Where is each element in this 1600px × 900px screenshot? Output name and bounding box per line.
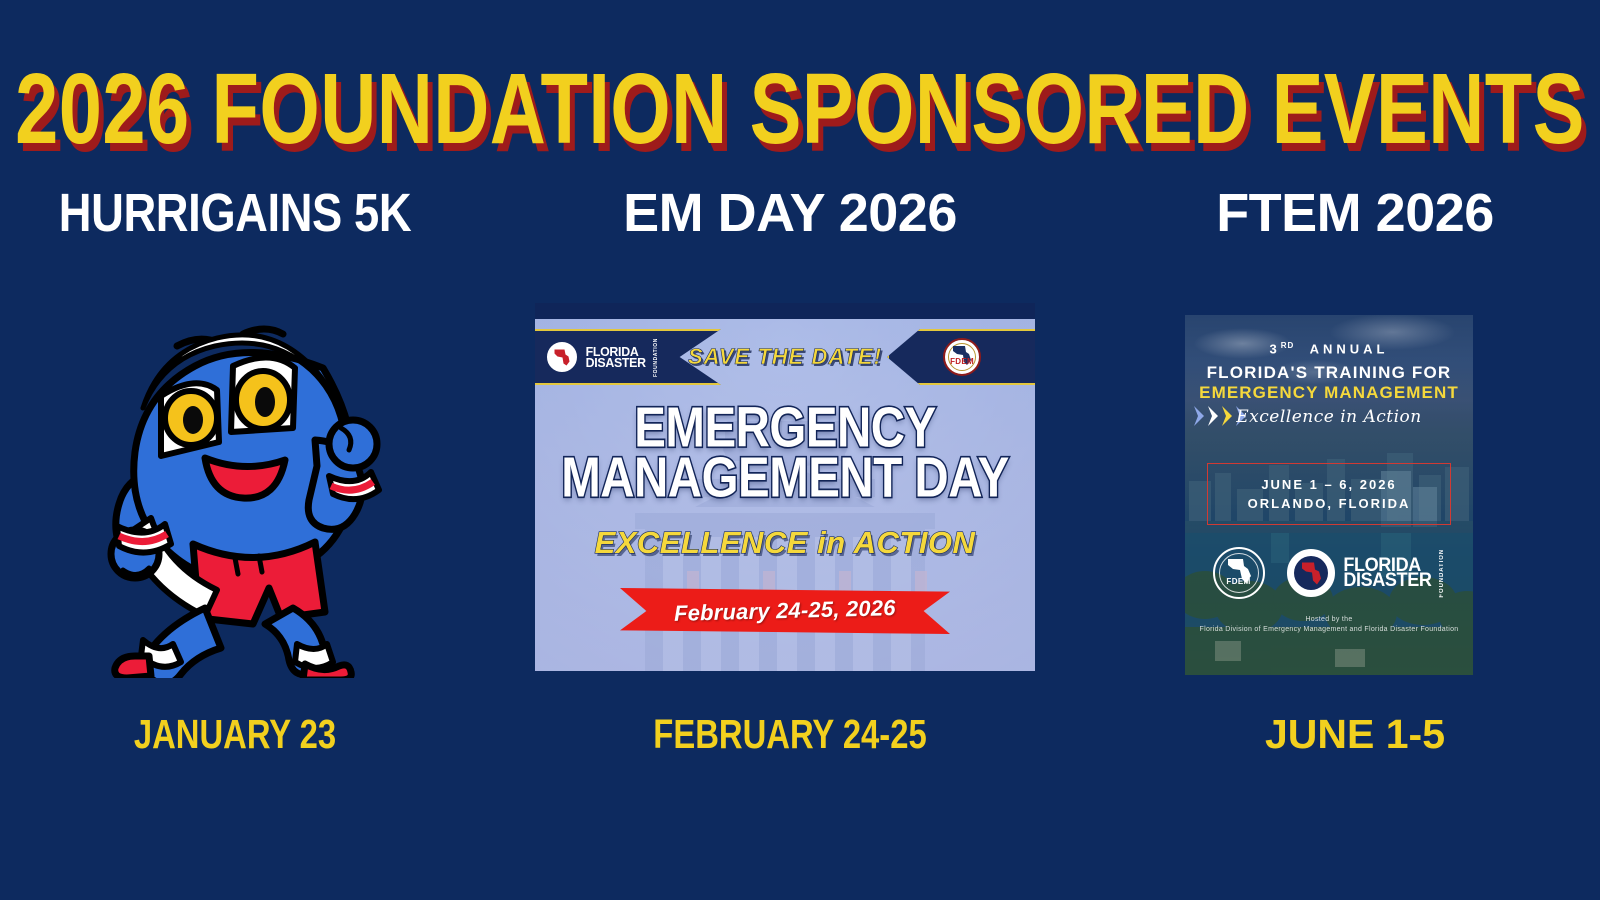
florida-disaster-foundation-logo: FLORIDA DISASTER FOUNDATION	[1287, 549, 1446, 598]
em-day-headline-line2: MANAGEMENT DAY	[553, 451, 1018, 506]
foundation-word-disaster: DISASTER	[586, 357, 646, 368]
ftem-annual-word: ANNUAL	[1310, 341, 1389, 356]
ftem-host-line1: Hosted by the	[1185, 615, 1473, 625]
fdem-seal-icon: FDEM	[943, 338, 981, 376]
ftem-location-text: ORLANDO, FLORIDA	[1248, 496, 1411, 511]
ftem-annual-number: 3	[1270, 341, 1281, 356]
ftem-host-line2: Florida Division of Emergency Management…	[1185, 625, 1473, 635]
ftem-annual-ordinal: RD	[1281, 341, 1295, 350]
florida-state-shape-icon	[1300, 561, 1322, 586]
fdem-seal-label: FDEM	[945, 357, 979, 366]
foundation-wordmark: FLORIDA DISASTER	[584, 346, 647, 368]
fdem-seal-label: FDEM	[1215, 577, 1263, 586]
raindrop-runner-mascot-icon	[65, 308, 405, 678]
event-date-hurrigains: JANUARY 23	[47, 712, 423, 756]
page-title-text: 2026 FOUNDATION SPONSORED EVENTS	[15, 52, 1585, 168]
event-date-ftem: JUNE 1-5	[1110, 712, 1600, 756]
foundation-wordmark: FLORIDA DISASTER	[1341, 558, 1434, 588]
ftem-annual-line: 3RD ANNUAL	[1185, 341, 1473, 356]
event-heading-em-day: EM DAY 2026	[500, 185, 1080, 241]
fdem-seal-icon: FDEM	[1213, 547, 1265, 599]
ftem-logos-row: FDEM FLORIDA DISASTER F	[1185, 547, 1473, 599]
foundation-seal-icon	[545, 340, 579, 374]
page-title: 2026 FOUNDATION SPONSORED EVENTS	[0, 52, 1600, 141]
event-card-hurrigains-5k: HURRIGAINS 5K	[0, 185, 470, 241]
poster-canvas: 2026 FOUNDATION SPONSORED EVENTS HURRIGA…	[0, 0, 1600, 900]
ftem-host-credit: Hosted by the Florida Division of Emerge…	[1185, 615, 1473, 635]
ftem-date-text: JUNE 1 – 6, 2026	[1261, 477, 1396, 492]
florida-state-shape-icon	[554, 348, 571, 367]
flyer-top-bar	[535, 303, 1035, 319]
flyer-banner-row: SAVE THE DATE! FLORIDA DISASTER	[535, 329, 1035, 385]
em-day-flyer-image: SAVE THE DATE! FLORIDA DISASTER	[535, 303, 1035, 671]
ftem-script-tagline: Excellence in Action	[1185, 407, 1473, 427]
em-day-date-ribbon: February 24-25, 2026	[620, 588, 950, 634]
ftem-title-line1: FLORIDA'S TRAINING FOR	[1185, 363, 1473, 383]
ftem-flyer-image: 3RD ANNUAL FLORIDA'S TRAINING FOR EMERGE…	[1185, 315, 1473, 675]
foundation-seal-icon	[1287, 549, 1335, 597]
event-card-ftem: FTEM 2026	[1110, 185, 1600, 241]
foundation-word-vertical: FOUNDATION	[1439, 549, 1445, 598]
em-day-tagline: EXCELLENCE in ACTION	[535, 525, 1035, 561]
ftem-title-line2: EMERGENCY MANAGEMENT	[1185, 383, 1473, 403]
em-day-headline: EMERGENCY MANAGEMENT DAY	[535, 403, 1035, 503]
event-card-em-day: EM DAY 2026	[500, 185, 1080, 241]
event-heading-hurrigains: HURRIGAINS 5K	[38, 185, 433, 241]
event-heading-ftem: FTEM 2026	[1110, 185, 1600, 241]
foundation-word-vertical: FOUNDATION	[653, 338, 659, 377]
hurrigains-mascot-illustration	[0, 295, 470, 690]
foundation-word-disaster: DISASTER	[1343, 573, 1431, 588]
em-day-ribbon-date: February 24-25, 2026	[674, 595, 896, 627]
florida-disaster-foundation-logo: FLORIDA DISASTER FOUNDATION	[545, 338, 659, 377]
events-row: HURRIGAINS 5K	[0, 185, 1600, 825]
event-date-em-day: FEBRUARY 24-25	[558, 712, 1022, 756]
ftem-date-location-box: JUNE 1 – 6, 2026 ORLANDO, FLORIDA	[1207, 463, 1451, 525]
